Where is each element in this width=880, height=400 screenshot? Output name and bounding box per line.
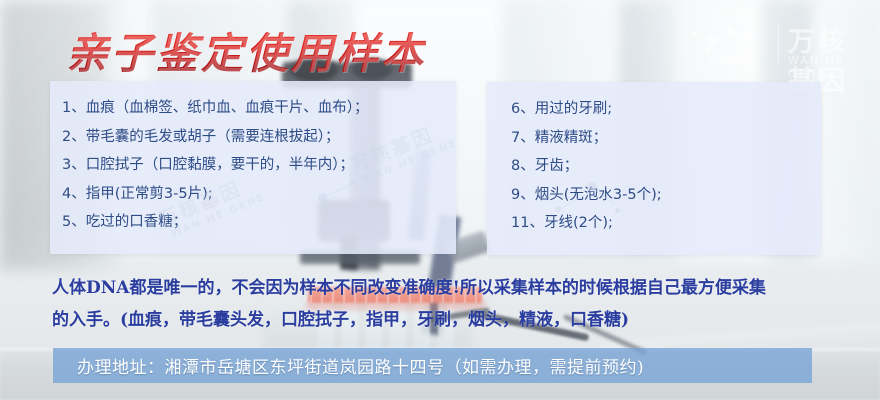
logo-cn-small: 万核基因 <box>690 51 772 67</box>
list-item: 11、牙线(2个); <box>511 209 821 238</box>
list-item: 3、口腔拭子（口腔黏膜，要干的，半年内）； <box>62 151 456 180</box>
sample-list-panel-right: 万核基因 WAN HE GENE 万核基因 WAN HE GENE 6、用过的牙… <box>487 82 821 255</box>
list-item: 4、指甲(正常剪3-5片); <box>62 180 456 209</box>
brand-logo: 万核基因 万核基因 WAN HE GENE <box>688 18 870 70</box>
list-item: 5、吃过的口香糖； <box>62 208 456 237</box>
list-item: 9、烟头(无泡水3-5个); <box>511 181 821 210</box>
list-item: 2、带毛囊的毛发或胡子（需要连根拔起）； <box>62 123 456 152</box>
page-title: 亲子鉴定使用样本 <box>66 20 426 81</box>
paragraph-line-1: 人体DNA都是唯一的，不会因为样本不同改变准确度!所以采集样本的时候根据自己最方… <box>52 272 842 304</box>
poster-canvas: 万核基因 万核基因 WAN HE GENE 亲子鉴定使用样本 万核基因 WAN … <box>0 0 880 400</box>
list-item: 6、用过的牙刷; <box>511 95 821 124</box>
list-item: 1、血痕（血棉签、纸巾血、血痕干片、血布）； <box>62 94 456 123</box>
logo-divider <box>778 22 779 64</box>
logo-en: WAN HE GENE <box>788 54 870 80</box>
sample-list-panel-left: 万核基因 WAN HE GENE 万核基因 WAN HE GENE 1、血痕（血… <box>50 81 456 254</box>
paragraph-line-2: 的入手。(血痕，带毛囊头发，口腔拭子，指甲，牙刷，烟头，精液，口香糖) <box>52 304 842 336</box>
sample-list-right: 6、用过的牙刷; 7、精液精斑； 8、牙齿； 9、烟头(无泡水3-5个); 11… <box>511 95 821 238</box>
description-paragraph: 人体DNA都是唯一的，不会因为样本不同改变准确度!所以采集样本的时候根据自己最方… <box>52 272 842 336</box>
list-item: 8、牙齿； <box>511 152 821 181</box>
list-item: 7、精液精斑； <box>511 124 821 153</box>
watermark-node-dot <box>615 208 620 213</box>
address-text: 办理地址：湘潭市岳塘区东坪街道岚园路十四号（如需办理，需提前预约) <box>77 353 644 378</box>
address-bar: 办理地址：湘潭市岳塘区东坪街道岚园路十四号（如需办理，需提前预约) <box>53 348 812 383</box>
sample-list-left: 1、血痕（血棉签、纸巾血、血痕干片、血布）； 2、带毛囊的毛发或胡子（需要连根拔… <box>62 94 456 237</box>
